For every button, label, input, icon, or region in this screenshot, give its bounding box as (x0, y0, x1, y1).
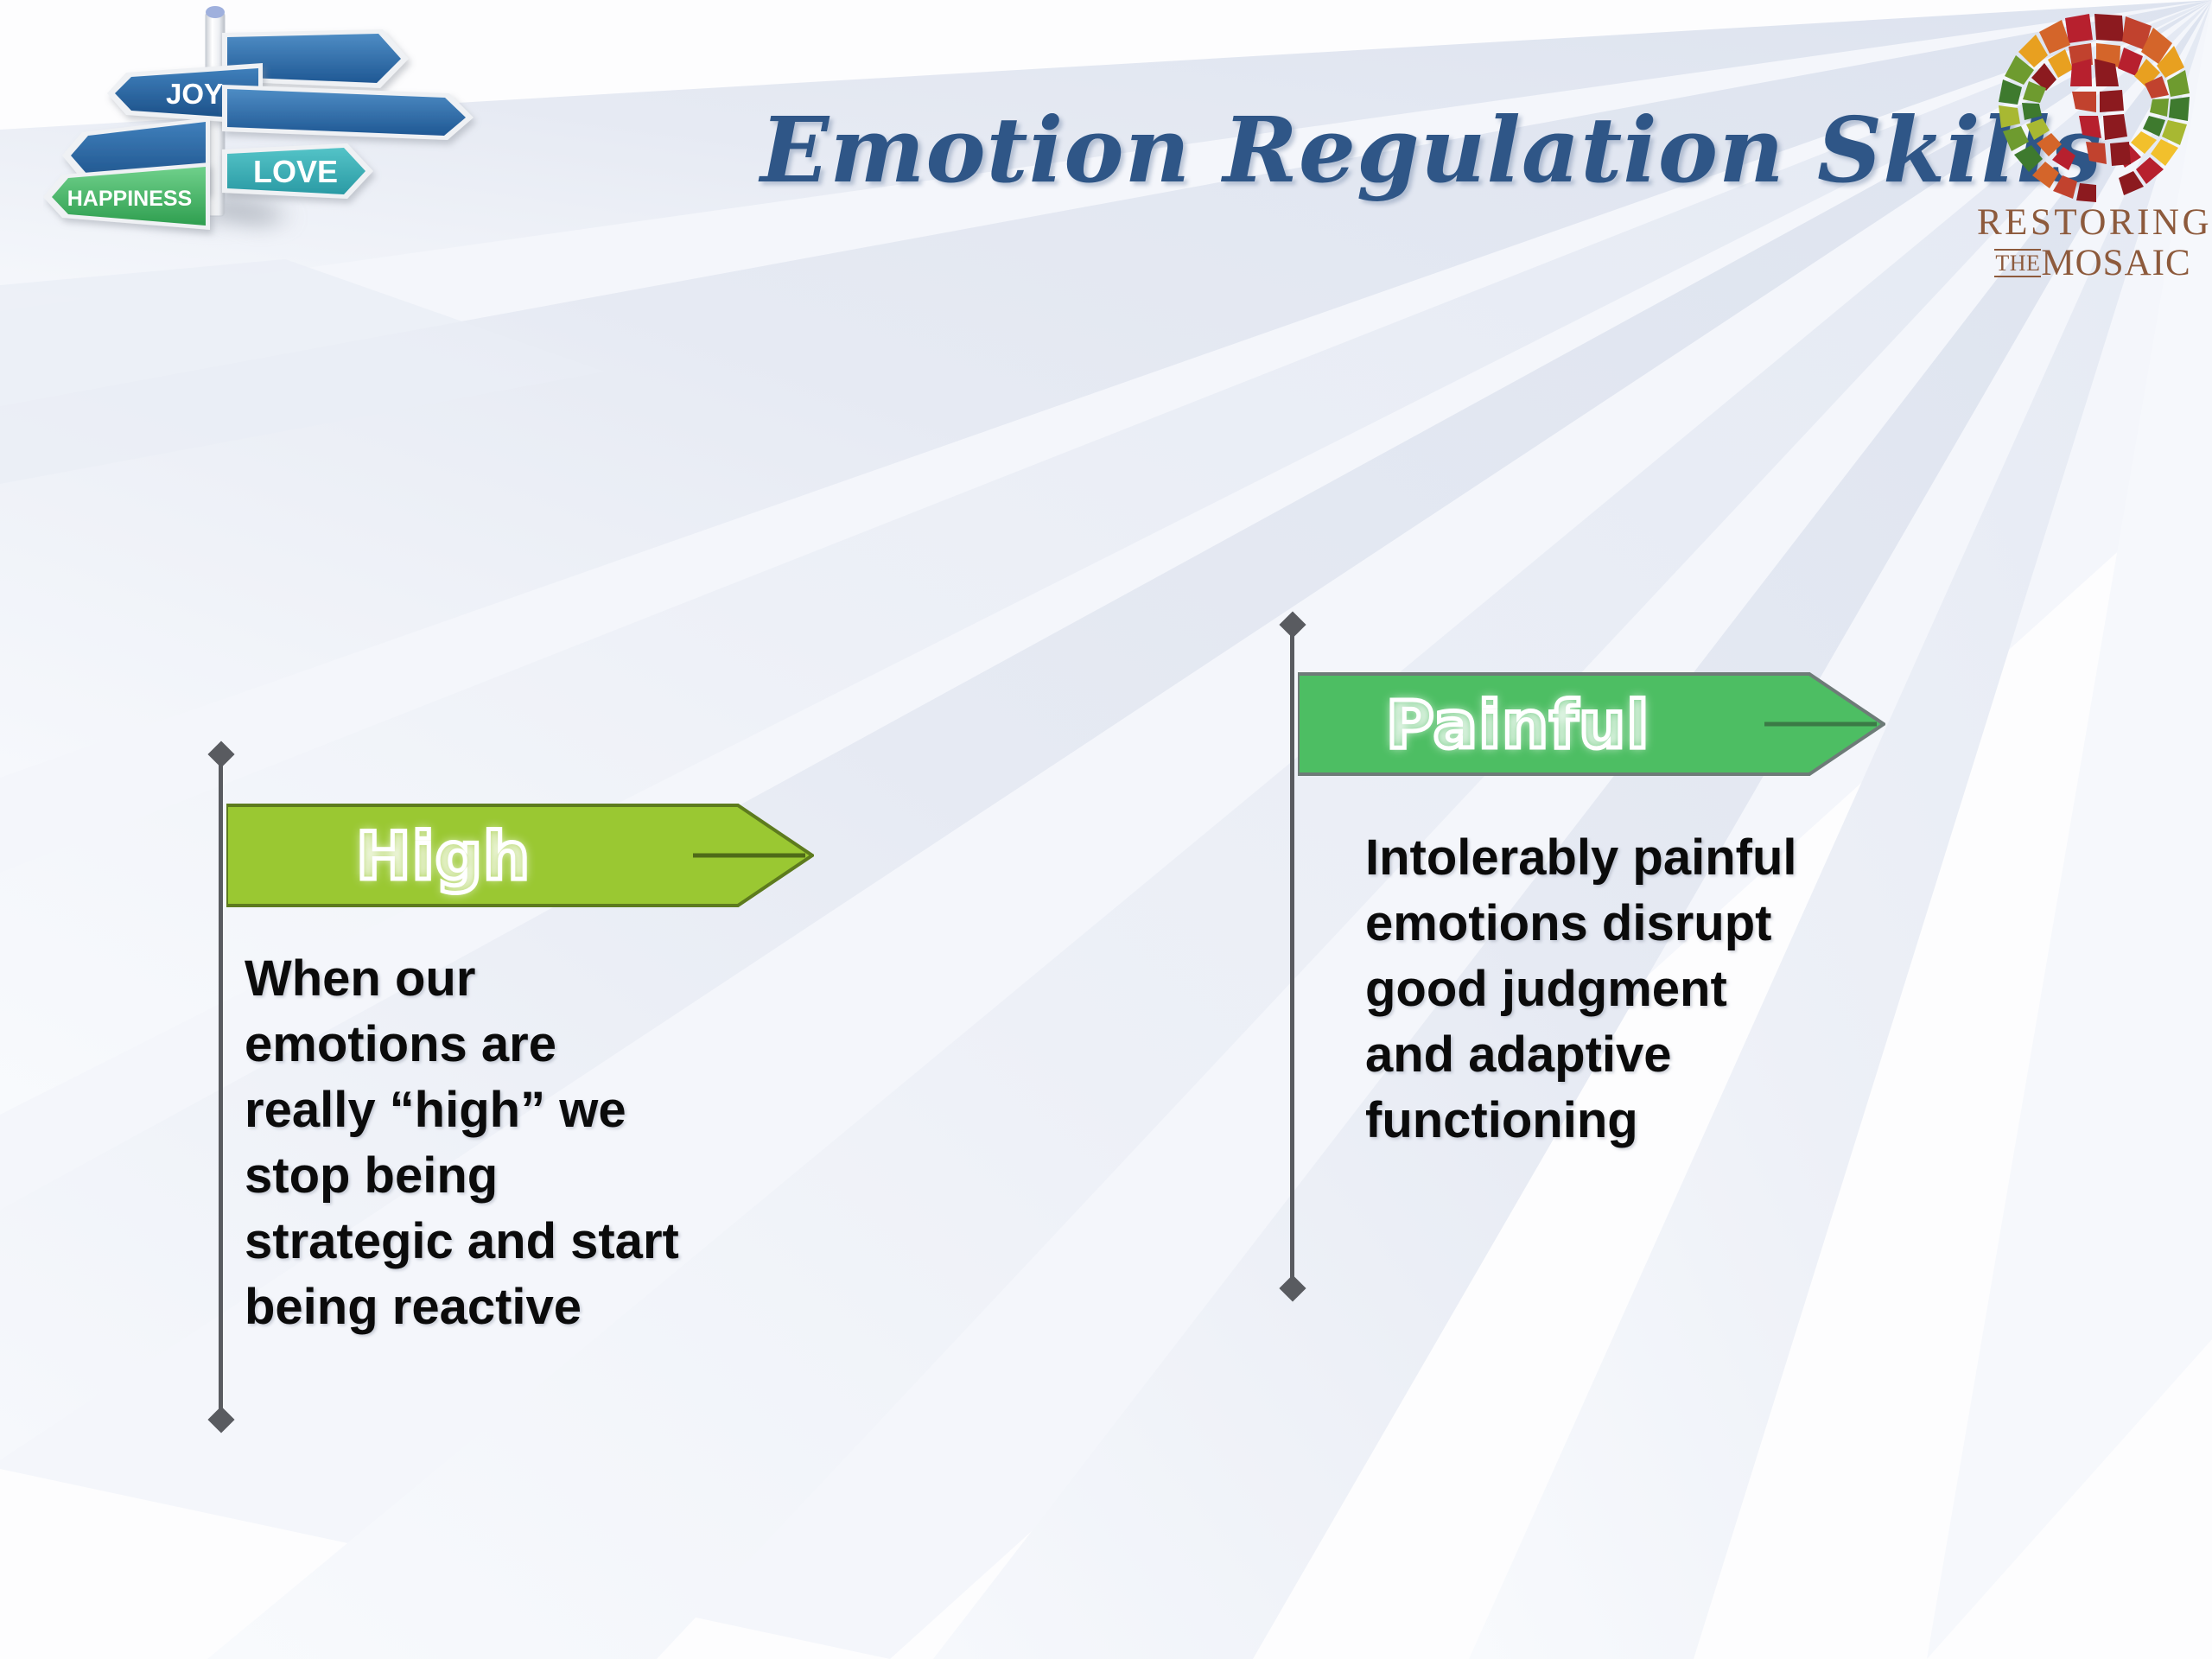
signpost-label-love: LOVE (253, 154, 338, 189)
body-text-painful: Intolerably painful emotions disrupt goo… (1365, 825, 1918, 1154)
signpost-graphic: JOY LOVE HAPPINESS (43, 0, 570, 389)
logo: RESTORING THEMOSAIC (1977, 7, 2209, 283)
banner-high[interactable]: High (226, 804, 814, 907)
signpost-sign-blank-2 (222, 85, 474, 140)
vline-painful (1290, 624, 1294, 1296)
logo-line-mosaic: THEMOSAIC (1977, 245, 2209, 282)
signpost-sign-love: LOVE (222, 143, 373, 199)
banner-painful-label: Painful (1298, 672, 1885, 776)
body-text-high: When our emotions are really “high” we s… (245, 946, 798, 1340)
signpost-label-happiness: HAPPINESS (67, 187, 192, 211)
page-title: Emotion Regulation Skills (760, 97, 1987, 203)
signpost-label-joy: JOY (166, 78, 223, 110)
logo-wordmark: RESTORING THEMOSAIC (1977, 204, 2209, 282)
logo-line-restoring: RESTORING (1977, 204, 2209, 241)
slide-canvas: JOY LOVE HAPPINESS Emotion Regulation Sk… (0, 0, 2212, 1659)
logo-mosaic: MOSAIC (2041, 243, 2190, 283)
logo-the: THE (1994, 249, 2041, 277)
banner-painful[interactable]: Painful (1298, 672, 1885, 776)
signpost-sign-happiness: HAPPINESS (43, 162, 210, 230)
mosaic-wreath-icon (1993, 7, 2193, 204)
banner-high-label: High (226, 804, 814, 907)
vline-high (219, 753, 223, 1427)
